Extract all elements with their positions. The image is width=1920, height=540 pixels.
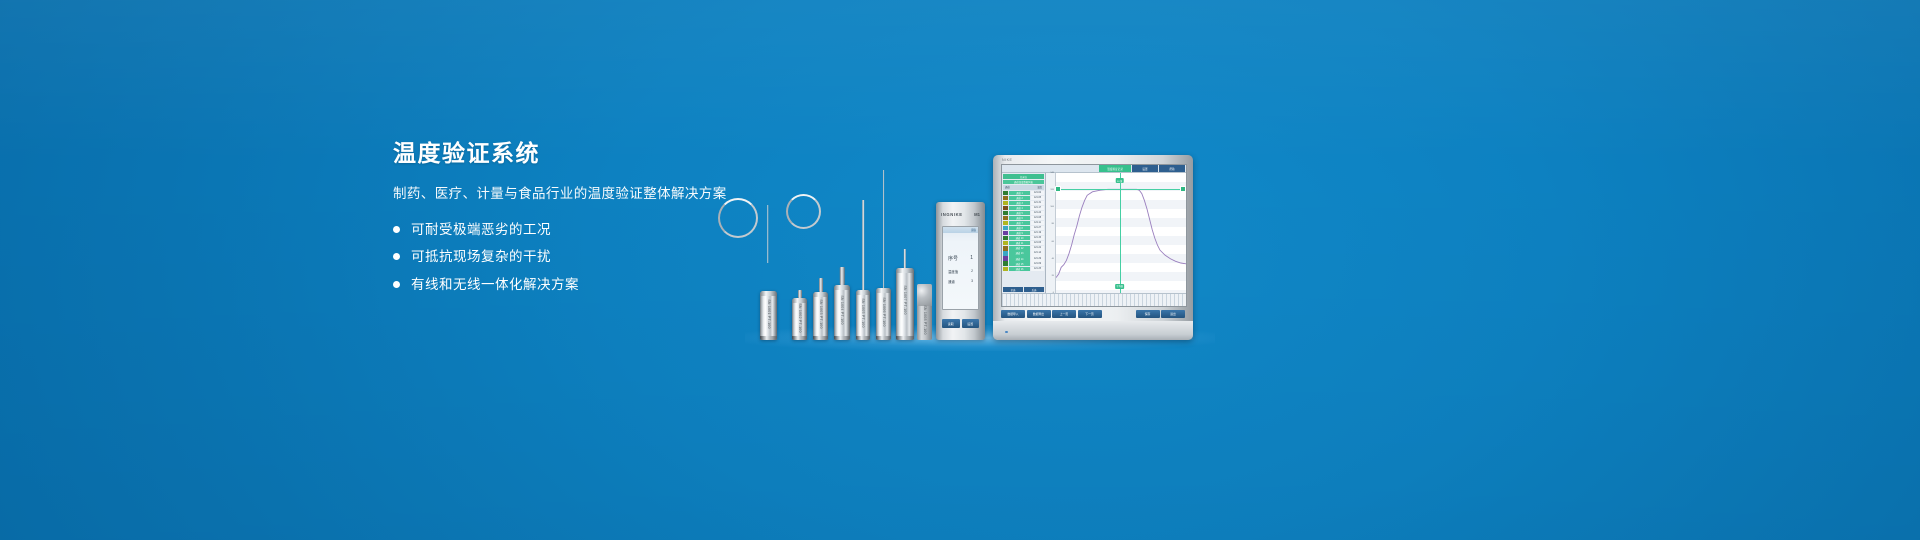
cursor-top-tag: F0 值 [1115, 178, 1124, 183]
channel-color-swatch [1003, 196, 1008, 200]
channel-color-swatch [1003, 231, 1008, 235]
handheld-row: 序号 1 [943, 255, 978, 262]
handheld-row: 温度值 2 [943, 269, 978, 274]
channel-color-swatch [1003, 256, 1008, 260]
buttonbar-spacer [1103, 310, 1134, 318]
table-row[interactable]: 通道 12121.22 [1003, 246, 1044, 251]
table-row[interactable]: 通道 7121.11 [1003, 221, 1044, 226]
list-item: 可耐受极端恶劣的工况 [393, 223, 913, 237]
table-row[interactable]: 通道 13121.14 [1003, 251, 1044, 256]
import-data-button[interactable]: 数据导入 [1001, 310, 1025, 318]
channel-color-swatch [1003, 191, 1008, 195]
channel-temperature: 121.17 [1031, 206, 1044, 210]
table-row[interactable]: 通道 8121.27 [1003, 226, 1044, 231]
handheld-row-value: 1 [970, 255, 973, 262]
page-title: 温度验证系统 [393, 142, 913, 165]
table-row[interactable]: 通道 4121.17 [1003, 206, 1044, 211]
sidebar-subheader: 通道温度数据列表 [1003, 180, 1044, 185]
channel-color-swatch [1003, 221, 1008, 225]
banner-copy: 温度验证系统 制药、医疗、计量与食品行业的温度验证整体解决方案 可耐受极端恶劣的… [393, 142, 913, 305]
feature-label: 有线和无线一体化解决方案 [411, 278, 579, 292]
channel-temperature: 121.08 [1031, 216, 1044, 220]
topbar-settings-tab[interactable]: 设置 [1132, 165, 1158, 172]
channel-color-swatch [1003, 216, 1008, 220]
channel-name: 通道 15 [1009, 261, 1030, 265]
reference-line [1056, 189, 1186, 190]
channel-color-swatch [1003, 246, 1008, 250]
channel-color-swatch [1003, 261, 1008, 265]
table-row[interactable]: 通道 6121.08 [1003, 216, 1044, 221]
handheld-row-value: 2 [971, 269, 973, 274]
channel-list[interactable]: 通道 1121.02通道 2121.05通道 3121.31通道 4121.17… [1003, 190, 1044, 286]
table-row[interactable]: 通道 11121.06 [1003, 241, 1044, 246]
select-all-button[interactable]: 全选 [1003, 287, 1023, 292]
channel-temperature: 121.02 [1031, 191, 1044, 195]
table-row[interactable]: 通道 10121.33 [1003, 236, 1044, 241]
handheld-row-label: 序号 [948, 255, 958, 262]
handheld-reader: INGNIKE M1 读取 序号 1 温度值 2 通道 3 [936, 202, 985, 340]
channel-name: 通道 16 [1009, 267, 1030, 271]
table-row[interactable]: 通道 14121.29 [1003, 256, 1044, 261]
monitor-horizontal-scrollbar[interactable] [1002, 293, 1186, 306]
channel-temperature: 121.19 [1031, 231, 1044, 235]
channel-temperature: 121.22 [1031, 246, 1044, 250]
channel-name: 通道 9 [1009, 231, 1030, 235]
bullet-dot-icon [393, 226, 400, 233]
column-header-channel: 通道 [1005, 185, 1010, 189]
invert-selection-button[interactable]: 反选 [1024, 287, 1044, 292]
sintered-cap [917, 284, 932, 306]
monitor-button-bar: 数据导入 数据导出 上一页 下一页 保存 退出 [1001, 310, 1185, 318]
feature-label: 可抵抗现场复杂的干扰 [411, 250, 551, 264]
channel-name: 通道 2 [1009, 196, 1030, 200]
channel-color-swatch [1003, 241, 1008, 245]
channel-temperature: 121.25 [1031, 267, 1044, 271]
sidebar-header: 记录仪 [1003, 174, 1044, 179]
channel-color-swatch [1003, 267, 1008, 271]
channel-color-swatch [1003, 201, 1008, 205]
handheld-titlebar: 读取 [943, 227, 978, 233]
channel-temperature: 121.27 [1031, 226, 1044, 230]
topbar-help-tab[interactable]: 帮助 [1159, 165, 1185, 172]
y-axis-tick: 60 [1052, 241, 1054, 243]
channel-name: 通道 8 [1009, 226, 1030, 230]
chart-plot-area[interactable]: F0 值 平均值 [1056, 173, 1186, 293]
channel-color-swatch [1003, 211, 1008, 215]
monitor-body: 记录仪 通道温度数据列表 通道 温度 通道 1121.02通道 2121.05通… [1002, 173, 1186, 293]
table-row[interactable]: 通道 9121.19 [1003, 231, 1044, 236]
channel-color-swatch [1003, 251, 1008, 255]
y-axis-tick: 120 [1050, 189, 1054, 191]
y-axis-tick: 0 [1053, 292, 1054, 294]
channel-temperature: 121.05 [1031, 196, 1044, 200]
brand-label: INGNIKE [941, 212, 963, 217]
chart-cursor[interactable] [1120, 173, 1121, 293]
handheld-screen-title: 读取 [971, 228, 976, 232]
channel-temperature: 121.24 [1031, 211, 1044, 215]
monitor-topbar: 温度验证记录 设置 帮助 [1002, 165, 1186, 173]
channel-temperature: 121.29 [1031, 256, 1044, 260]
channel-name: 通道 4 [1009, 206, 1030, 210]
channel-name: 通道 11 [1009, 241, 1030, 245]
y-axis-tick: 80 [1052, 223, 1054, 225]
list-item: 可抵抗现场复杂的干扰 [393, 250, 913, 264]
handheld-row: 通道 3 [943, 279, 978, 284]
channel-color-swatch [1003, 226, 1008, 230]
channel-sidebar: 记录仪 通道温度数据列表 通道 温度 通道 1121.02通道 2121.05通… [1002, 173, 1046, 293]
sintered-filter-logger: SN 1008 PT-100 [917, 284, 932, 340]
power-led-icon [1005, 331, 1008, 334]
handheld-read-button[interactable]: 读取 [942, 319, 960, 328]
channel-temperature: 121.33 [1031, 236, 1044, 240]
product-banner: 温度验证系统 制药、医疗、计量与食品行业的温度验证整体解决方案 可耐受极端恶劣的… [0, 0, 1920, 540]
handheld-row-label: 通道 [948, 279, 955, 284]
column-header-temp: 温度 [1037, 185, 1042, 189]
sidebar-column-headers: 通道 温度 [1003, 185, 1044, 190]
bullet-dot-icon [393, 281, 400, 288]
table-row[interactable]: 通道 3121.31 [1003, 200, 1044, 205]
monitor-bezel-chin [993, 321, 1193, 340]
y-axis-tick: 140 [1050, 172, 1054, 174]
table-row[interactable]: 通道 1121.02 [1003, 190, 1044, 195]
channel-name: 通道 14 [1009, 256, 1030, 260]
monitor-screen: 温度验证记录 设置 帮助 记录仪 通道温度数据列表 通道 温度 通道 1121.… [1001, 164, 1187, 307]
y-axis-tick: 20 [1052, 275, 1054, 277]
save-button[interactable]: 保存 [1136, 310, 1160, 318]
channel-temperature: 121.09 [1031, 261, 1044, 265]
channel-temperature: 121.11 [1031, 221, 1044, 225]
y-axis-tick: 40 [1052, 258, 1054, 260]
channel-temperature: 121.06 [1031, 241, 1044, 245]
channel-name: 通道 12 [1009, 246, 1030, 250]
channel-name: 通道 5 [1009, 211, 1030, 215]
table-row[interactable]: 通道 2121.05 [1003, 195, 1044, 200]
handheld-row-label: 温度值 [948, 269, 958, 274]
table-row[interactable]: 通道 5121.24 [1003, 211, 1044, 216]
handheld-settings-button[interactable]: 设置 [962, 319, 980, 328]
right-marker-handle[interactable] [1180, 186, 1186, 192]
temperature-curve [1056, 173, 1186, 293]
handheld-button-bar: 读取 设置 [942, 319, 979, 328]
page-subtitle: 制药、医疗、计量与食品行业的温度验证整体解决方案 [393, 187, 913, 201]
model-label: M1 [974, 212, 980, 217]
handheld-row-value: 3 [971, 279, 973, 284]
channel-color-swatch [1003, 236, 1008, 240]
export-data-button[interactable]: 数据导出 [1027, 310, 1051, 318]
sidebar-footer-buttons: 全选 反选 [1003, 287, 1044, 292]
feature-list: 可耐受极端恶劣的工况 可抵抗现场复杂的干扰 有线和无线一体化解决方案 [393, 223, 913, 292]
handheld-screen: 读取 序号 1 温度值 2 通道 3 [942, 226, 979, 310]
channel-temperature: 121.31 [1031, 201, 1044, 205]
bullet-dot-icon [393, 253, 400, 260]
cursor-bottom-tag: 平均值 [1115, 284, 1125, 289]
table-row[interactable]: 通道 15121.09 [1003, 261, 1044, 266]
y-axis-tick: 100 [1050, 206, 1054, 208]
next-page-button[interactable]: 下一页 [1078, 310, 1102, 318]
prev-page-button[interactable]: 上一页 [1052, 310, 1076, 318]
channel-name: 通道 13 [1009, 251, 1030, 255]
topbar-spacer [1002, 165, 1099, 172]
feature-label: 可耐受极端恶劣的工况 [411, 223, 551, 237]
handheld-brand-row: INGNIKE M1 [941, 212, 980, 217]
channel-temperature: 121.14 [1031, 251, 1044, 255]
validation-monitor: NIKE 温度验证记录 设置 帮助 记录仪 通道温度数据列表 通道 温度 [993, 155, 1193, 340]
channel-name: 通道 3 [1009, 201, 1030, 205]
exit-button[interactable]: 退出 [1161, 310, 1185, 318]
left-marker-handle[interactable] [1055, 186, 1061, 192]
topbar-title-chip: 温度验证记录 [1099, 165, 1131, 172]
temperature-chart: 020406080100120140 F0 值 平均值 [1046, 173, 1186, 293]
channel-name: 通道 1 [1009, 191, 1030, 195]
channel-name: 通道 7 [1009, 221, 1030, 225]
list-item: 有线和无线一体化解决方案 [393, 278, 913, 292]
channel-color-swatch [1003, 206, 1008, 210]
logger-label: SN 1002 PT-100 [798, 303, 802, 332]
monitor-brand-label: NIKE [1002, 158, 1012, 162]
channel-name: 通道 10 [1009, 236, 1030, 240]
logger-label: SN 1008 PT-100 [923, 305, 927, 334]
table-row[interactable]: 通道 16121.25 [1003, 266, 1044, 271]
channel-name: 通道 6 [1009, 216, 1030, 220]
